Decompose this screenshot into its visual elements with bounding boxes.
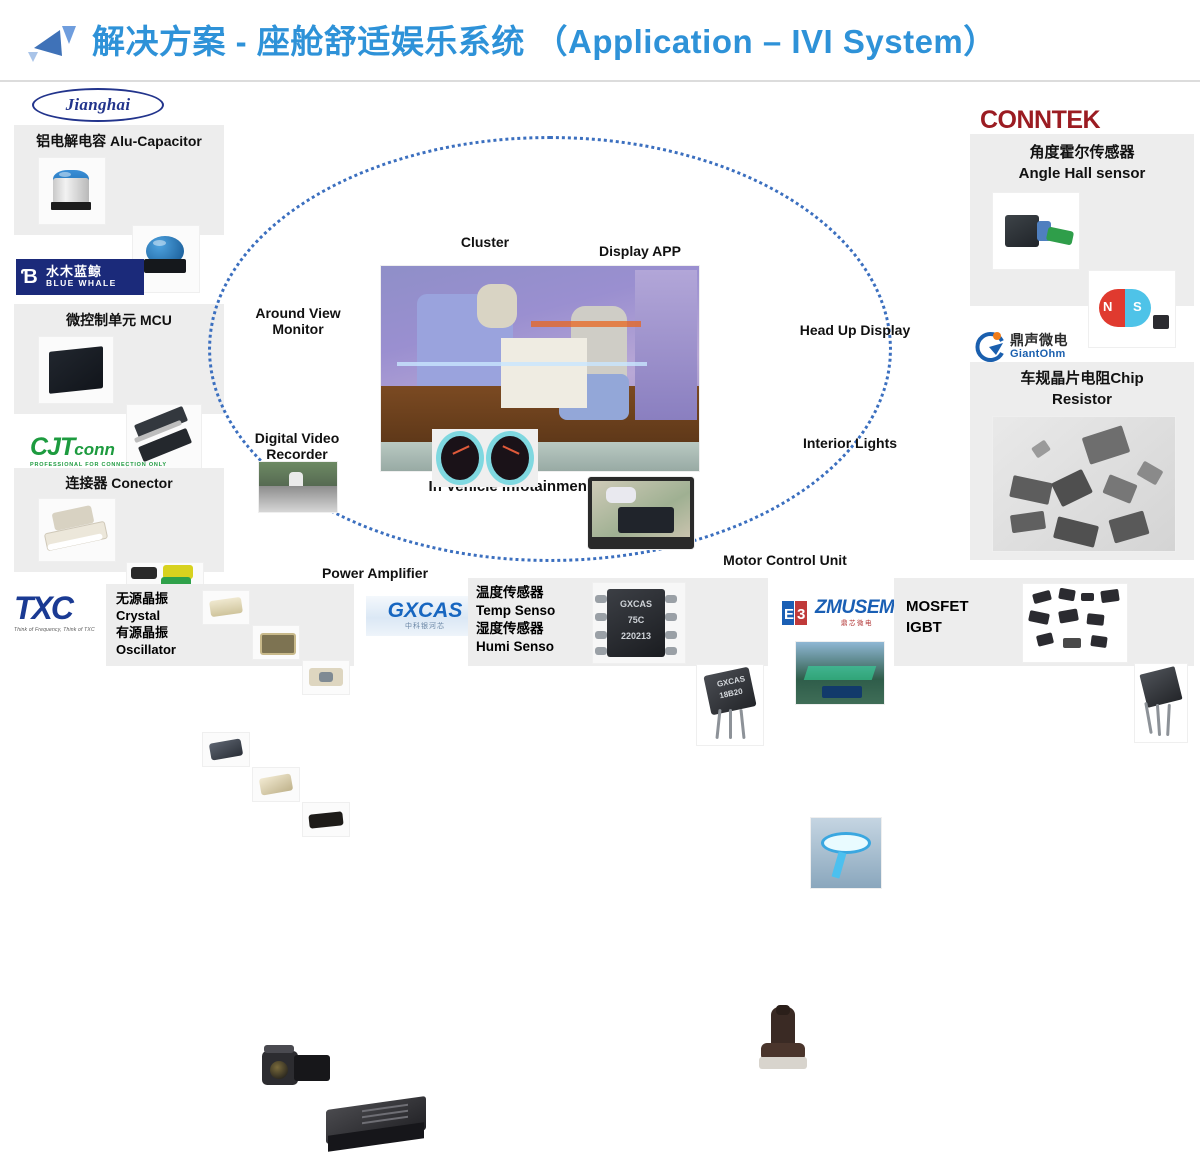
cjt-conn-logo-icon: CJTconn [30,436,115,462]
photo-oscillator-1 [202,732,250,767]
zmusemi-wordmark: ZMUSEMI [815,598,899,617]
diagram-node-label-digital-video-recorder: Digital Video Recorder [238,430,356,462]
diagram-node-label-interior-lights: Interior Lights [790,435,910,451]
card-chip-resistor: 车规晶片电阻Chip Resistor [970,362,1194,560]
photo-to247-igbt [1134,663,1188,743]
brand-blue-whale: Ɓ 水木蓝鲸 BLUE WHALE [16,259,144,295]
diagram-node-label-cluster: Cluster [430,234,540,250]
card-title-temp-humi-sensor: 温度传感器 Temp Senso 湿度传感器 Humi Senso [476,584,586,656]
conntek-wordmark: CONNTEK [980,106,1100,134]
card-title-mosfet-igbt: MOSFET IGBT [906,596,1016,638]
photo-interior-lights [810,817,882,889]
crystal-line-4: Oscillator [116,641,196,658]
brand-giantohm: 鼎声微电 GiantOhm [972,330,1068,364]
photo-hall-sensor-module [992,192,1080,270]
photo-head-up-display [795,641,885,705]
chip-marking-line-3: 220213 [607,631,665,641]
photo-digital-video-recorder [252,1043,340,1101]
triangle-arrow-logo-icon [26,18,88,64]
page-title: 解决方案 - 座舱舒适娱乐系统 （Application – IVI Syste… [92,20,1152,64]
photo-soic-sensor: GXCAS 75C 220213 [592,582,686,664]
card-alu-capacitor: 铝电解电容 Alu-Capacitor [14,125,224,235]
photo-connector-white [38,498,116,562]
photo-alu-capacitor-1 [38,157,106,225]
brand-conntek: CONNTEK [980,106,1100,135]
diagram-node-label-head-up-display: Head Up Display [790,322,920,338]
brand-txc: TXC Think of Frequency, Think of TXC [14,590,95,633]
card-title-angle-hall-en: Angle Hall sensor [970,165,1194,183]
sensor-line-1: 温度传感器 [476,584,586,602]
photo-to92-sensor: GXCAS 18B20 [696,664,764,746]
photo-oscillator-2 [252,767,300,802]
photo-chip-resistors [992,416,1176,552]
cjt-suffix: conn [74,440,115,459]
zmusemi-sub: 鼎芯微电 [841,617,873,627]
photo-oscillator-3 [302,802,350,837]
chip-marking-line-1: GXCAS [607,599,665,609]
card-temp-humi-sensor: 温度传感器 Temp Senso 湿度传感器 Humi Senso GXCAS … [468,578,768,666]
header-divider [0,80,1200,82]
card-title-alu-capacitor: 铝电解电容 Alu-Capacitor [14,133,224,150]
card-angle-hall-sensor: 角度霍尔传感器 Angle Hall sensor N S [970,134,1194,306]
card-crystal-oscillator: 无源晶振 Crystal 有源晶振 Oscillator [106,584,354,666]
card-title-mcu: 微控制单元 MCU [14,312,224,329]
crystal-line-3: 有源晶振 [116,624,196,641]
sensor-line-3: 湿度传感器 [476,620,586,638]
crystal-line-1: 无源晶振 [116,590,196,607]
card-title-crystal-oscillator: 无源晶振 Crystal 有源晶振 Oscillator [116,590,196,658]
card-title-angle-hall-cn: 角度霍尔传感器 [970,144,1194,162]
txc-tagline: Think of Frequency, Think of TXC [14,627,95,633]
gxcas-sub: 中科银河芯 [405,621,445,631]
photo-mcu-bga [38,336,114,404]
blue-whale-logo-icon: Ɓ 水木蓝鲸 BLUE WHALE [16,259,144,295]
blue-whale-en: BLUE WHALE [46,278,144,289]
txc-wordmark: TXC [14,590,72,627]
diagram-node-label-around-view-monitor: Around View Monitor [240,305,356,337]
mosfet-line-1: MOSFET [906,596,1016,617]
whale-mark-icon: Ɓ [21,266,41,288]
mosfet-line-2: IGBT [906,617,1016,638]
photo-crystal-1 [202,590,250,625]
magnet-label-s: S [1133,299,1142,314]
page-header: 解决方案 - 座舱舒适娱乐系统 （Application – IVI Syste… [0,0,1200,82]
photo-ivi-cabin [380,265,700,472]
chip-marking-line-2: 75C [607,615,665,625]
blue-whale-cn: 水木蓝鲸 [46,265,144,278]
photo-crystal-3 [302,660,350,695]
sensor-line-2: Temp Senso [476,602,586,620]
brand-cjt-conn: CJTconn PROFESSIONAL FOR CONNECTION ONLY [30,436,167,468]
gxcas-logo-icon: GXCAS 中科银河芯 [366,596,484,636]
svg-text:3: 3 [797,606,805,623]
card-title-chip-resistor-cn: 车规晶片电阻Chip [970,370,1194,388]
card-connector: 连接器 Conector [14,468,224,572]
photo-around-view-monitor [258,461,338,513]
zmusemi-logo-icon: ZMUSEMI 鼎芯微电 [815,598,899,627]
cjt-wordmark: CJT [30,433,74,461]
jianghai-wordmark: Jianghai [66,95,131,115]
zmusemi-mark-icon: E 3 [782,600,810,626]
gxcas-wordmark: GXCAS [388,601,463,621]
diagram-node-label-display-app: Display APP [580,243,700,259]
giantohm-en: GiantOhm [1010,348,1068,361]
jianghai-oval-logo-icon: Jianghai [32,88,164,122]
diagram-node-label-power-amplifier: Power Amplifier [310,565,440,581]
card-mosfet-igbt: MOSFET IGBT [894,578,1194,666]
photo-magnet-ns-diagram: N S [1088,270,1176,348]
photo-motor-control-unit [745,1005,817,1077]
magnet-label-n: N [1103,299,1112,314]
giantohm-cn: 鼎声微电 [1010,333,1068,348]
conntek-logo-icon: CONNTEK [980,106,1100,135]
card-title-chip-resistor-en: Resistor [970,391,1194,409]
diagram-node-label-motor-control-unit: Motor Control Unit [715,552,855,568]
photo-smd-mosfet-group [1022,583,1128,663]
crystal-line-2: Crystal [116,607,196,624]
giantohm-mark-icon [972,330,1006,364]
photo-cluster [432,429,538,487]
card-title-connector: 连接器 Conector [14,475,224,492]
sensor-line-4: Humi Senso [476,638,586,656]
svg-text:E: E [784,606,794,623]
brand-gxcas: GXCAS 中科银河芯 [366,596,484,636]
brand-jianghai: Jianghai [32,88,164,122]
photo-display-app [587,476,695,550]
card-mcu: 微控制单元 MCU [14,304,224,414]
photo-crystal-2 [252,625,300,660]
brand-zmusemi: E 3 ZMUSEMI 鼎芯微电 [782,598,899,627]
